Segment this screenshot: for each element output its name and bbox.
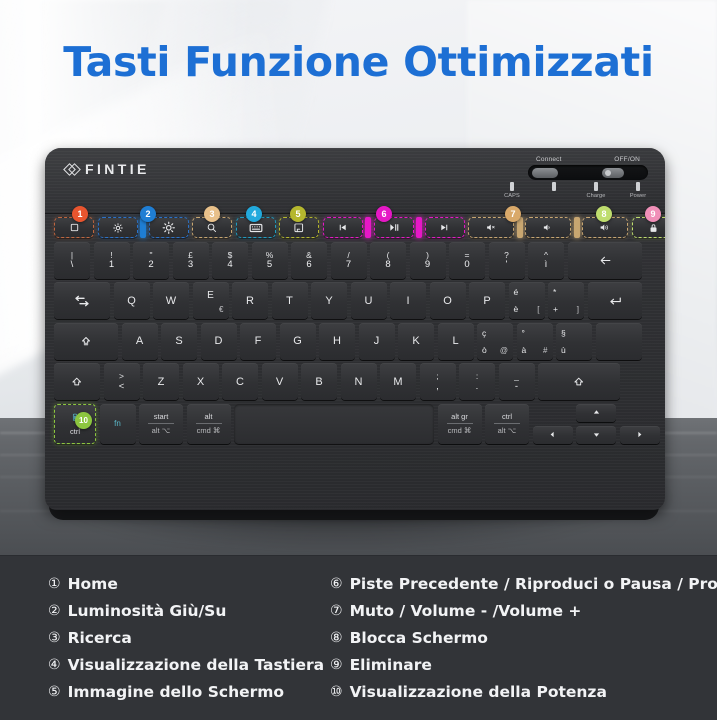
tab-icon <box>73 293 91 309</box>
letter-key-4[interactable]: F <box>240 323 276 360</box>
key-label-bottom: cmd ⌘ <box>197 426 221 435</box>
key-label: C <box>236 376 244 388</box>
legend-panel: ①Home②Luminosità Giù/Su③Ricerca④Visualiz… <box>0 555 717 720</box>
legend-text: Blocca Schermo <box>350 629 488 647</box>
key-label-lower: è <box>514 304 519 314</box>
key-label-bottom: alt ⌥ <box>498 426 517 435</box>
key-label-top: ctrl <box>502 412 512 421</box>
brand-name: FINTIE <box>85 161 150 177</box>
key-label: R <box>246 295 254 307</box>
caps-led-icon <box>510 182 514 191</box>
letter-key-2[interactable]: S <box>161 323 197 360</box>
backspace-key[interactable] <box>568 242 642 279</box>
key-legend-group: °à# <box>517 323 553 360</box>
key-label: J <box>374 335 380 347</box>
key-label-upper: ° <box>522 328 525 338</box>
legend-text: Eliminare <box>350 656 432 674</box>
number-key-10[interactable]: =0 <box>449 242 485 279</box>
letter-key-7[interactable]: N <box>341 363 377 400</box>
letter-key-2[interactable]: Z <box>143 363 179 400</box>
key-label: Z <box>158 376 165 388</box>
arrow-right-icon <box>635 430 644 439</box>
search-icon <box>206 222 218 234</box>
enter-lower-key[interactable] <box>596 323 642 360</box>
led-blank <box>541 182 567 199</box>
legend-number: ⑨ <box>330 657 343 673</box>
letter-key-9[interactable]: ;, <box>420 363 456 400</box>
led-power: Power <box>625 182 651 199</box>
key-label-lower: ' <box>506 260 508 270</box>
number-key-8[interactable]: (8 <box>370 242 406 279</box>
number-key-7[interactable]: /7 <box>331 242 367 279</box>
key-label: H <box>333 335 341 347</box>
volume-up-icon <box>598 222 612 233</box>
key-legend-group: éè[ <box>509 282 545 319</box>
prev-track-icon <box>337 222 348 233</box>
key-label-upper: * <box>553 287 556 297</box>
number-key-2[interactable]: "2 <box>133 242 169 279</box>
enter-icon <box>606 294 624 308</box>
legend-column-right: ⑥Piste Precedente / Riproduci o Pausa / … <box>322 570 717 705</box>
start-alt-key[interactable]: startalt ⌥ <box>139 404 183 444</box>
letter-key-1[interactable]: A <box>122 323 158 360</box>
legend-item: ⑥Piste Precedente / Riproduci o Pausa / … <box>330 570 717 597</box>
letter-key-12[interactable]: §ù <box>556 323 592 360</box>
qwerty-key-row: QWE€RTYUIOPéè[*+] <box>54 282 656 319</box>
key-legend-group: çò@ <box>477 323 513 360</box>
arrow-up-key[interactable] <box>576 404 616 422</box>
key-legend-group: §ù <box>556 323 592 360</box>
legend-item: ⑩Visualizzazione della Potenza <box>330 678 717 705</box>
legend-item: ②Luminosità Giù/Su <box>48 597 322 624</box>
letter-key-5[interactable]: T <box>272 282 308 319</box>
key-label: L <box>452 335 458 347</box>
key-divider <box>148 423 174 424</box>
capslock-key[interactable] <box>54 323 118 360</box>
key-label-upper: ; <box>436 372 438 381</box>
legend-item: ⑦Muto / Volume - /Volume + <box>330 597 717 624</box>
callout-badge-1: 1 <box>72 206 88 222</box>
brightness-up-key[interactable] <box>149 217 189 238</box>
brightness-low-icon <box>112 222 124 234</box>
letter-key-2[interactable]: W <box>153 282 189 319</box>
key-label: P <box>483 295 490 307</box>
enter-key[interactable] <box>588 282 642 319</box>
callout-badge-4: 4 <box>246 206 262 222</box>
number-key-3[interactable]: £3 <box>173 242 209 279</box>
key-label: G <box>293 335 302 347</box>
letter-key-4[interactable]: C <box>222 363 258 400</box>
letter-key-6[interactable]: H <box>319 323 355 360</box>
key-label-lower: ù <box>561 345 566 355</box>
legend-number: ⑤ <box>48 684 61 700</box>
key-label-altgr: € <box>219 305 223 314</box>
legend-number: ③ <box>48 630 61 646</box>
key-label-upper: £ <box>188 251 193 260</box>
shift-icon <box>71 376 83 388</box>
switch-area: Connect OFF/ON <box>528 156 648 180</box>
number-key-4[interactable]: $4 <box>212 242 248 279</box>
key-rows: canc |\!1"2£3$4%5&6/7(8)9=0?'^ì QWE€RTYU… <box>54 217 656 447</box>
callout-badge-6: 6 <box>376 206 392 222</box>
number-key-5[interactable]: %5 <box>252 242 288 279</box>
fintie-diamond-logo-icon <box>65 162 80 177</box>
key-label-lower: \ <box>71 260 74 270</box>
next-track-icon <box>439 222 450 233</box>
keyboard-icon <box>249 221 263 235</box>
legend-item: ⑤Immagine dello Schermo <box>48 678 322 705</box>
key-label-lower: ì <box>545 260 548 270</box>
backlight-glow <box>416 217 422 238</box>
key-label-upper: " <box>149 251 152 260</box>
backlight-glow <box>574 217 580 238</box>
key-label: K <box>412 335 419 347</box>
legend-item: ③Ricerca <box>48 624 322 651</box>
key-label-lower: , <box>436 382 439 392</box>
key-label-upper: ? <box>504 251 509 260</box>
arrow-right-key[interactable] <box>620 426 660 444</box>
arrow-down-key[interactable] <box>576 426 616 444</box>
capslock-icon <box>80 335 92 348</box>
key-label-lower: 6 <box>306 260 311 270</box>
brand-logo: FINTIE <box>65 161 150 177</box>
key-label-lower: - <box>515 382 518 392</box>
legend-text: Home <box>68 575 118 593</box>
key-label-upper: ) <box>426 251 429 260</box>
letter-key-5[interactable]: G <box>280 323 316 360</box>
legend-text: Visualizzazione della Tastiera <box>68 656 325 674</box>
key-label-upper: é <box>514 287 519 297</box>
legend-item: ①Home <box>48 570 322 597</box>
key-label: V <box>276 376 283 388</box>
key-label: E <box>193 290 229 301</box>
led-caps: CAPS <box>499 182 525 199</box>
key-label-lower: 1 <box>109 260 114 270</box>
letter-key-6[interactable]: B <box>301 363 337 400</box>
letter-key-12[interactable]: *+] <box>548 282 584 319</box>
legend-number: ⑩ <box>330 684 343 700</box>
key-label: N <box>355 376 363 388</box>
switch-track[interactable] <box>528 165 648 180</box>
blank-led-icon <box>552 182 556 191</box>
shift-key-row: ><ZXCVBNM;,:._- <box>54 363 656 400</box>
key-label-upper: _ <box>514 372 519 381</box>
volume-mute-icon <box>485 222 498 233</box>
key-label-lower: à <box>522 345 527 355</box>
backspace-icon <box>594 254 616 267</box>
letter-key-11[interactable]: éè[ <box>509 282 545 319</box>
callout-badge-9: 9 <box>645 206 661 222</box>
key-label-lower: 2 <box>148 260 153 270</box>
key-label-upper: ç <box>482 328 486 338</box>
key-label-upper: ^ <box>544 251 548 260</box>
key-label-upper: > <box>119 372 124 381</box>
prev-track-key[interactable] <box>323 217 363 238</box>
letter-key-3[interactable]: E€ <box>193 282 229 319</box>
legend-number: ⑦ <box>330 603 343 619</box>
key-label-altgr: # <box>543 346 547 355</box>
letter-key-3[interactable]: D <box>201 323 237 360</box>
key-label: fn <box>114 419 121 428</box>
key-divider <box>494 423 520 424</box>
number-key-6[interactable]: &6 <box>291 242 327 279</box>
keyboard-product-image: FINTIE Connect OFF/ON CAPS Charge Power … <box>45 148 675 523</box>
key-label-top: alt <box>205 412 213 421</box>
key-label-upper: % <box>266 251 274 260</box>
power-switch-label: OFF/ON <box>614 156 640 163</box>
brightness-down-key[interactable] <box>98 217 138 238</box>
key-label: F <box>255 335 262 347</box>
key-label-upper: = <box>465 251 470 260</box>
connect-switch-knob[interactable] <box>532 168 558 178</box>
key-label-bottom: alt ⌥ <box>152 426 171 435</box>
arrow-left-key[interactable] <box>533 426 573 444</box>
home-square-icon <box>69 222 80 233</box>
key-legend-group: *+] <box>548 282 584 319</box>
letter-key-11[interactable]: _- <box>499 363 535 400</box>
connect-switch-label: Connect <box>536 156 562 163</box>
letter-key-10[interactable]: :. <box>459 363 495 400</box>
arrow-down-icon <box>592 430 601 439</box>
key-label: X <box>197 376 204 388</box>
key-label: ctrl <box>70 427 80 436</box>
legend-text: Immagine dello Schermo <box>68 683 285 701</box>
key-label-lower: 5 <box>267 260 272 270</box>
callout-badge-2: 2 <box>140 206 156 222</box>
callout-badge-5: 5 <box>290 206 306 222</box>
power-switch-knob[interactable] <box>602 168 624 178</box>
legend-item: ④Visualizzazione della Tastiera <box>48 651 322 678</box>
led-charge: Charge <box>583 182 609 199</box>
key-label-upper: ( <box>387 251 390 260</box>
letter-key-11[interactable]: °à# <box>517 323 553 360</box>
letter-key-6[interactable]: Y <box>311 282 347 319</box>
key-label-upper: $ <box>228 251 233 260</box>
lock-icon <box>648 222 659 234</box>
key-label: Q <box>127 295 136 307</box>
key-label: A <box>136 335 143 347</box>
key-label: M <box>393 376 402 388</box>
alt-cmd-key[interactable]: altcmd ⌘ <box>187 404 231 444</box>
key-label-top: alt gr <box>451 412 468 421</box>
key-label-upper: § <box>561 328 566 338</box>
key-label-lower: ò <box>482 345 487 355</box>
key-label-lower: 3 <box>188 260 193 270</box>
letter-key-7[interactable]: U <box>351 282 387 319</box>
legend-item: ⑨Eliminare <box>330 651 717 678</box>
right-shift-key[interactable] <box>538 363 620 400</box>
legend-item: ⑧Blocca Schermo <box>330 624 717 651</box>
legend-number: ⑥ <box>330 576 343 592</box>
keyboard-body: FINTIE Connect OFF/ON CAPS Charge Power … <box>45 148 665 510</box>
key-label: S <box>175 335 182 347</box>
key-label: D <box>215 335 223 347</box>
key-label-lower: 0 <box>464 260 469 270</box>
legend-number: ① <box>48 576 61 592</box>
key-label-upper: | <box>71 251 73 260</box>
key-label: I <box>406 295 409 307</box>
tab-key[interactable] <box>54 282 110 319</box>
legend-number: ② <box>48 603 61 619</box>
legend-text: Piste Precedente / Riproduci o Pausa / P… <box>350 575 717 593</box>
key-label: B <box>315 376 322 388</box>
key-label-upper: & <box>306 251 312 260</box>
arrow-left-icon <box>548 430 557 439</box>
key-label-altgr: [ <box>537 305 539 314</box>
callout-badge-10: 10 <box>75 412 92 429</box>
key-label: U <box>365 295 373 307</box>
letter-key-8[interactable]: K <box>398 323 434 360</box>
altgr-cmd-key[interactable]: alt grcmd ⌘ <box>438 404 482 444</box>
letter-key-9[interactable]: O <box>430 282 466 319</box>
key-label: Y <box>325 295 332 307</box>
callout-badge-3: 3 <box>204 206 220 222</box>
volume-down-icon <box>542 222 554 233</box>
fn-key[interactable]: fn <box>100 404 136 444</box>
letter-key-5[interactable]: V <box>262 363 298 400</box>
number-key-11[interactable]: ?' <box>489 242 525 279</box>
number-key-1[interactable]: !1 <box>94 242 130 279</box>
arrow-up-icon <box>592 408 601 417</box>
letter-key-1[interactable]: Q <box>114 282 150 319</box>
shift-icon <box>573 376 585 388</box>
key-label-lower: 9 <box>425 260 430 270</box>
legend-text: Visualizzazione della Potenza <box>350 683 607 701</box>
status-led-group: CAPS Charge Power <box>499 182 651 199</box>
next-track-key[interactable] <box>425 217 465 238</box>
backlight-glow <box>365 217 371 238</box>
screenshot-icon <box>293 222 305 234</box>
left-shift-key[interactable] <box>54 363 100 400</box>
callout-badge-8: 8 <box>596 206 612 222</box>
key-label-upper: : <box>476 372 478 381</box>
legend-number: ④ <box>48 657 61 673</box>
letter-key-4[interactable]: R <box>232 282 268 319</box>
key-label: W <box>166 295 176 307</box>
brightness-high-icon <box>162 221 176 235</box>
letter-key-8[interactable]: I <box>390 282 426 319</box>
bottom-key-row: ctrlfnstartalt ⌥altcmd ⌘alt grcmd ⌘ctrla… <box>54 404 656 444</box>
key-label-lower: < <box>119 382 125 392</box>
key-label: O <box>443 295 452 307</box>
number-key-0[interactable]: |\ <box>54 242 90 279</box>
key-label: T <box>286 295 293 307</box>
legend-text: Muto / Volume - /Volume + <box>350 602 582 620</box>
play-pause-icon <box>388 222 400 233</box>
spacebar[interactable] <box>234 404 434 444</box>
callout-badge-7: 7 <box>505 206 521 222</box>
number-key-9[interactable]: )9 <box>410 242 446 279</box>
letter-key-10[interactable]: çò@ <box>477 323 513 360</box>
letter-key-8[interactable]: M <box>380 363 416 400</box>
key-label-lower: + <box>553 304 558 314</box>
letter-key-1[interactable]: >< <box>104 363 140 400</box>
key-label-top: start <box>154 412 169 421</box>
number-key-12[interactable]: ^ì <box>528 242 564 279</box>
key-label-lower: 7 <box>346 260 351 270</box>
key-label-lower: . <box>476 382 479 392</box>
letter-key-7[interactable]: J <box>359 323 395 360</box>
key-label-bottom: cmd ⌘ <box>448 426 472 435</box>
volume-down-key[interactable] <box>525 217 571 238</box>
key-divider <box>196 423 222 424</box>
charge-led-icon <box>594 182 598 191</box>
home-key-row: ASDFGHJKLçò@°à#§ù <box>54 323 656 360</box>
key-label-lower: 8 <box>385 260 390 270</box>
key-label-upper: ! <box>110 251 112 260</box>
letter-key-3[interactable]: X <box>183 363 219 400</box>
legend-text: Luminosità Giù/Su <box>68 602 227 620</box>
key-label-lower: 4 <box>227 260 232 270</box>
page-title: Tasti Funzione Ottimizzati <box>0 38 717 86</box>
legend-column-left: ①Home②Luminosità Giù/Su③Ricerca④Visualiz… <box>0 570 322 705</box>
key-divider <box>447 423 473 424</box>
key-label-altgr: @ <box>500 346 508 355</box>
legend-number: ⑧ <box>330 630 343 646</box>
number-key-row: |\!1"2£3$4%5&6/7(8)9=0?'^ì <box>54 242 656 279</box>
key-label-upper: / <box>347 251 349 260</box>
ctrl-alt-key[interactable]: ctrlalt ⌥ <box>485 404 529 444</box>
key-label-altgr: ] <box>577 305 579 314</box>
letter-key-9[interactable]: L <box>438 323 474 360</box>
legend-text: Ricerca <box>68 629 132 647</box>
letter-key-10[interactable]: P <box>469 282 505 319</box>
key-legend-group: E€ <box>193 282 229 319</box>
power-led-icon <box>636 182 640 191</box>
